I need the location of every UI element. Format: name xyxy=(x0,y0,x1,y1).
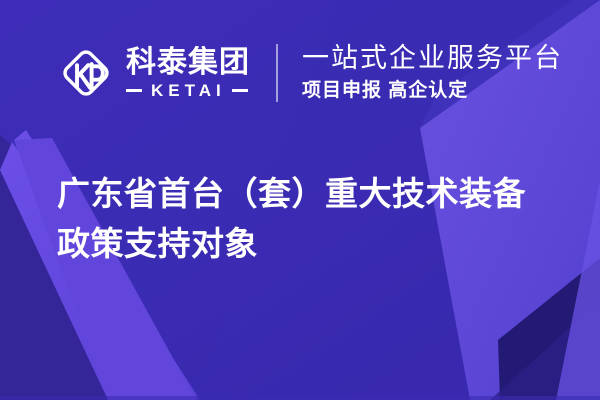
brand-logo[interactable]: 科泰集团 KETAI xyxy=(58,45,250,101)
dash-left-icon xyxy=(126,89,142,92)
page-title-line-1: 广东省首台（套）重大技术装备 xyxy=(57,169,557,219)
tagline-main: 一站式企业服务平台 xyxy=(302,43,563,74)
page-title-line-2: 政策支持对象 xyxy=(57,219,557,269)
vertical-divider-icon xyxy=(276,44,278,102)
bg-bottom-edge xyxy=(0,396,600,400)
tagline-sub: 项目申报 高企认定 xyxy=(302,79,563,103)
dash-right-icon xyxy=(232,89,248,92)
logo-wordmark: 科泰集团 KETAI xyxy=(126,47,250,99)
logo-name-en: KETAI xyxy=(142,82,232,99)
logo-name-cn: 科泰集团 xyxy=(126,47,250,79)
logo-name-en-row: KETAI xyxy=(126,82,250,99)
banner-header: 科泰集团 KETAI 一站式企业服务平台 项目申报 高企认定 xyxy=(58,38,563,108)
page-title: 广东省首台（套）重大技术装备 政策支持对象 xyxy=(57,169,557,269)
ketai-kt-diamond-icon xyxy=(58,45,114,101)
tagline: 一站式企业服务平台 项目申报 高企认定 xyxy=(302,43,563,103)
promo-banner: 科泰集团 KETAI 一站式企业服务平台 项目申报 高企认定 广东省首台（套）重… xyxy=(0,0,600,400)
